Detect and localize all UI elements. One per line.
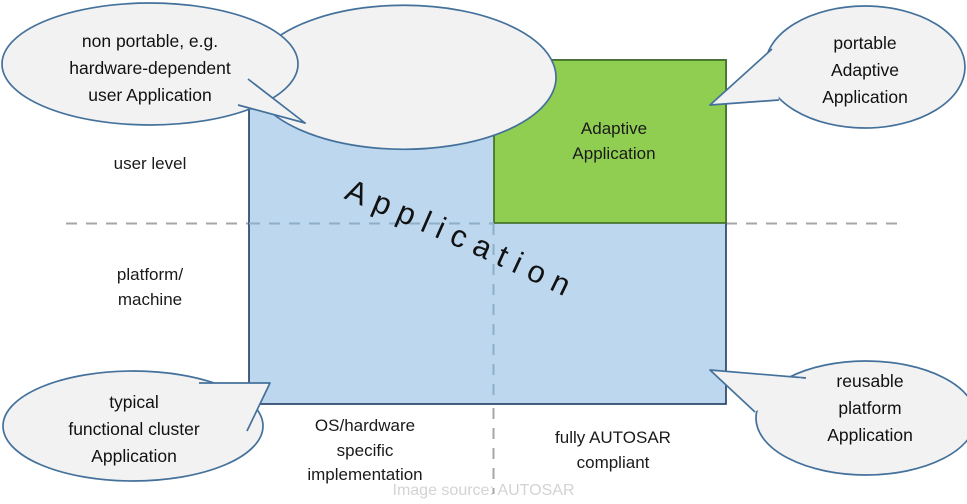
axis-label-platform-machine: platform/ machine <box>60 263 240 312</box>
axis-label-fully-autosar-compliant: fully AUTOSAR compliant <box>500 426 726 475</box>
axis-label-user-level: user level <box>60 152 240 177</box>
axis-label-os-hardware-specific: OS/hardware specific implementation <box>252 414 478 488</box>
image-source-watermark: Image source: AUTOSAR <box>0 482 967 500</box>
callout-top-left-label: non portable, e.g. hardware-dependent us… <box>22 28 278 109</box>
callout-bottom-left-label: typical functional cluster Application <box>20 389 248 470</box>
callout-bottom-right-label: reusable platform Application <box>790 368 950 449</box>
adaptive-application-label: Adaptive Application <box>503 117 725 166</box>
callout-top-right-label: portable Adaptive Application <box>783 30 947 111</box>
callout-top-right-tail-seam <box>775 52 777 98</box>
diagram-canvas: Application user level <box>0 0 967 504</box>
